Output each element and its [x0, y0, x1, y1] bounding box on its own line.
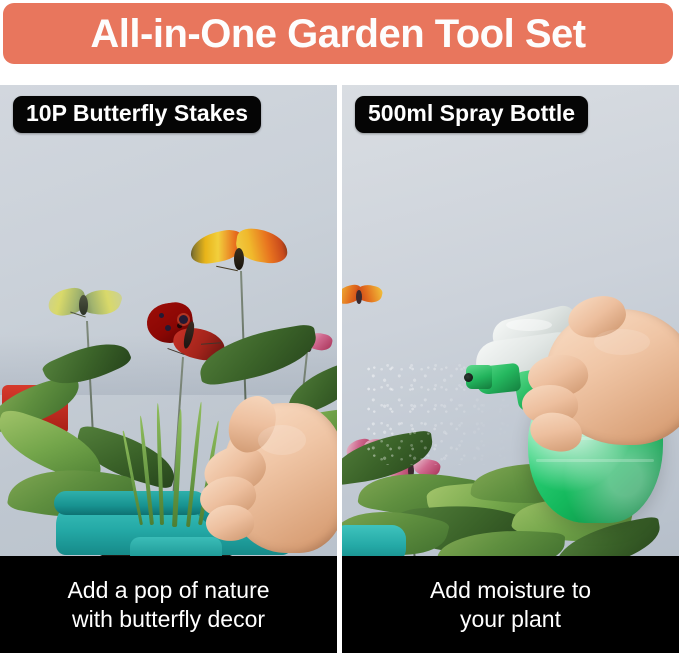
teal-planter-lip	[54, 491, 206, 515]
photo-butterfly-stakes	[0, 85, 337, 556]
caption-line-1: Add moisture to	[430, 576, 591, 605]
butterfly-body	[356, 290, 362, 304]
caption-line-2: your plant	[460, 605, 561, 634]
butterfly-body	[79, 295, 88, 315]
badge-label: 500ml Spray Bottle	[368, 100, 575, 126]
hand	[196, 385, 337, 556]
teal-planter-edge	[342, 525, 406, 556]
skin-highlight	[594, 329, 650, 355]
butterfly-body	[234, 248, 244, 270]
caption-spray-bottle: Add moisture to your plant	[342, 556, 679, 653]
page-title: All-in-One Garden Tool Set	[90, 14, 585, 54]
product-infographic: All-in-One Garden Tool Set	[0, 0, 679, 653]
caption-butterfly-stakes: Add a pop of nature with butterfly decor	[0, 556, 337, 653]
wing-eyespot	[179, 315, 188, 324]
header-banner: All-in-One Garden Tool Set	[3, 3, 673, 64]
caption-line-1: Add a pop of nature	[67, 576, 269, 605]
butterfly-orange-yellow	[190, 230, 288, 278]
panel-butterfly-stakes: 10P Butterfly Stakes Add a pop of nature…	[0, 85, 337, 653]
wing-spot	[159, 313, 164, 318]
panel-container: 10P Butterfly Stakes Add a pop of nature…	[0, 85, 679, 653]
butterfly-orange	[342, 283, 382, 311]
panel-spray-bottle: 500ml Spray Bottle Add moisture to your …	[342, 85, 679, 653]
wing-spot	[165, 325, 171, 331]
caption-line-2: with butterfly decor	[72, 605, 265, 634]
badge-butterfly-stakes: 10P Butterfly Stakes	[13, 96, 261, 133]
badge-spray-bottle: 500ml Spray Bottle	[355, 96, 588, 133]
badge-label: 10P Butterfly Stakes	[26, 100, 248, 126]
nozzle-tip	[464, 373, 473, 382]
skin-highlight	[258, 425, 306, 455]
butterfly-yellow-green	[48, 285, 120, 327]
hand	[524, 303, 679, 483]
photo-spray-bottle	[342, 85, 679, 556]
